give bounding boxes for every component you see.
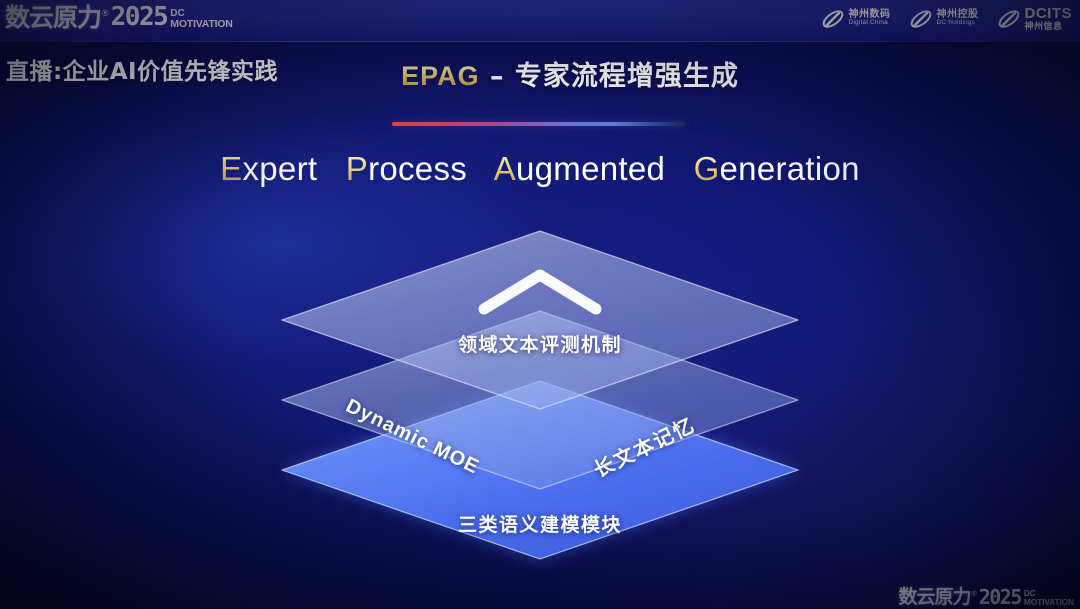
swirl-logo-icon: [821, 7, 845, 31]
subtitle-rest: ugmented: [516, 150, 665, 187]
watermark-year: 2025: [979, 587, 1021, 607]
swirl-logo-icon: [909, 7, 933, 31]
watermark-registered: ®: [972, 591, 977, 598]
page-title-acronym: EPAG: [401, 61, 480, 91]
subtitle-word-expert: Expert: [220, 150, 317, 187]
partner-logos: 神州数码 Digital China 神州控股 DC Holdings: [821, 6, 1073, 31]
brand-logo-motivation: MOTIVATION: [170, 19, 232, 30]
page-subtitle: Expert Process Augmented Generation: [0, 150, 1080, 188]
subtitle-rest: eneration: [720, 150, 860, 187]
brand-logo-dc: DC: [170, 9, 232, 19]
diagram-label-bottom: 三类语义建模模块: [270, 510, 810, 537]
partner-name-en: Digital China: [849, 20, 891, 27]
watermark-dc-motivation: DC MOTIVATION: [1024, 590, 1074, 607]
gradient-divider: [392, 122, 686, 126]
diagram-layer-top[interactable]: [270, 225, 810, 420]
footer-watermark: 数云原力 ® 2025 DC MOTIVATION: [899, 587, 1074, 607]
header-bar: 数云原力 ® 2025 DC MOTIVATION 神州数码 Digital C…: [0, 0, 1080, 42]
subtitle-rest: xpert: [242, 150, 317, 187]
page-title: EPAG – 专家流程增强生成: [0, 54, 1080, 93]
subtitle-initial: E: [220, 150, 242, 187]
subtitle-rest: rocess: [368, 150, 467, 187]
subtitle-word-process: Process: [346, 150, 467, 187]
partner-name-en: DC Holdings: [937, 20, 979, 27]
watermark-cn: 数云原力: [899, 588, 971, 607]
partner-logo-digital-china: 神州数码 Digital China: [821, 7, 891, 31]
partner-logo-dc-holdings: 神州控股 DC Holdings: [909, 7, 979, 31]
brand-logo-dc-motivation: DC MOTIVATION: [170, 9, 232, 30]
slide-canvas: 数云原力 ® 2025 DC MOTIVATION 神州数码 Digital C…: [0, 0, 1080, 609]
chevron-up-icon: [270, 265, 810, 322]
brand-logo-year: 2025: [111, 4, 168, 30]
partner-logo-dcits: DCITS 神州信息: [997, 6, 1073, 31]
brand-logo-cn: 数云原力: [5, 5, 101, 30]
subtitle-initial: A: [494, 150, 516, 187]
diagram-label-top: 领域文本评测机制: [270, 330, 810, 357]
brand-logo: 数云原力 ® 2025 DC MOTIVATION: [5, 4, 233, 30]
subtitle-initial: P: [346, 150, 368, 187]
subtitle-word-augmented: Augmented: [494, 150, 666, 187]
layered-architecture-diagram: 领域文本评测机制 Dynamic MOE 长文本记忆 三类语义建模模块: [270, 225, 810, 570]
subtitle-word-generation: Generation: [694, 150, 860, 187]
subtitle-initial: G: [694, 150, 720, 187]
swirl-logo-icon: [997, 7, 1021, 31]
brand-logo-registered: ®: [102, 8, 109, 18]
partner-name-en: DCITS: [1025, 6, 1073, 22]
page-title-chinese: 专家流程增强生成: [515, 61, 739, 92]
watermark-motivation: MOTIVATION: [1024, 598, 1074, 607]
page-title-separator: –: [480, 61, 515, 92]
partner-name-cn: 神州信息: [1025, 22, 1073, 31]
